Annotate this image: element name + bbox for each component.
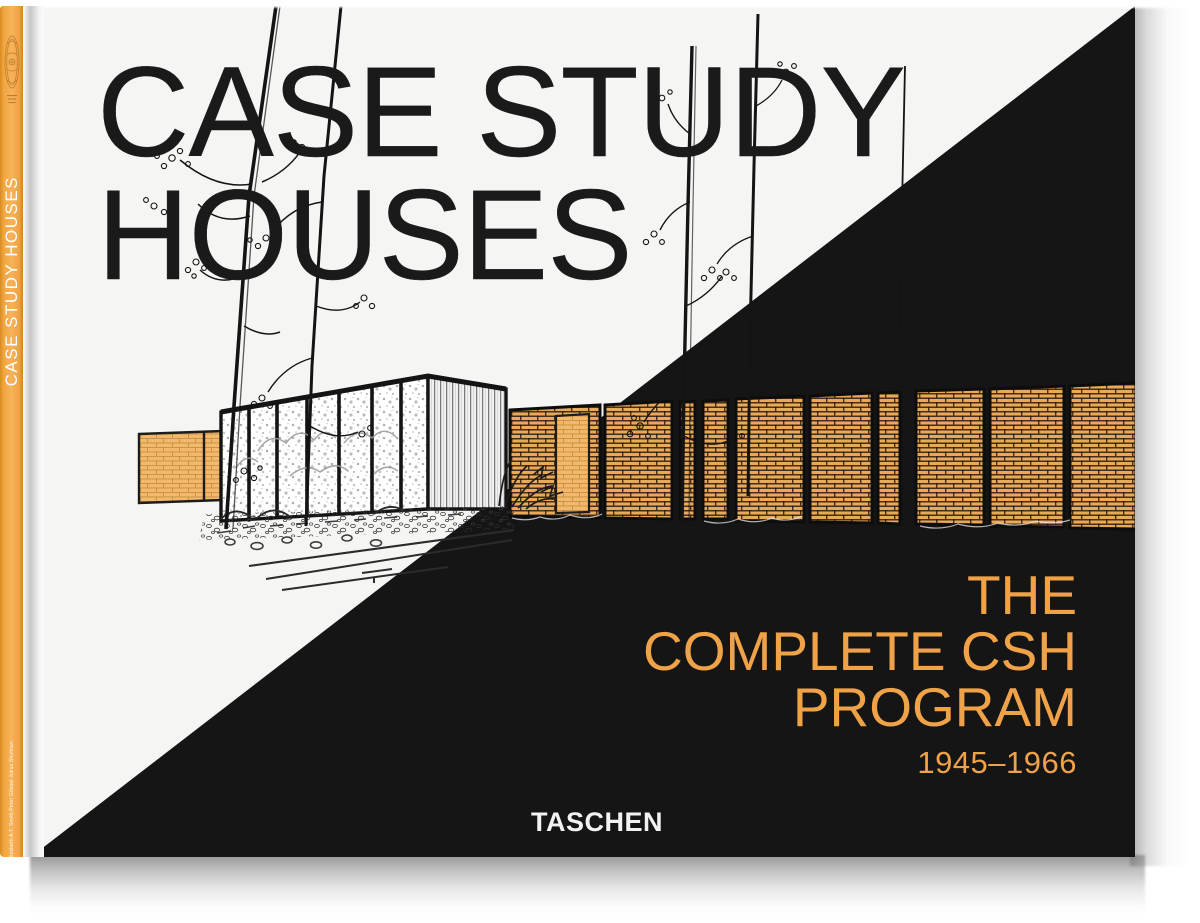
- house-siding-volume: [221, 376, 506, 509]
- house-glass-facade: [221, 376, 428, 521]
- book-spine-hinge: [23, 6, 44, 857]
- book-spine: CASE STUDY HOUSES TASCHEN Elizabeth A.T.…: [0, 6, 23, 857]
- design-award-seal-icon: [3, 32, 20, 124]
- publisher-logo: TASCHEN: [531, 807, 663, 838]
- cover-top-highlight: [44, 6, 1135, 9]
- book-cover-scene: CASE STUDY HOUSES TASCHEN Elizabeth A.T.…: [0, 0, 1200, 923]
- book: CASE STUDY HOUSES TASCHEN Elizabeth A.T.…: [0, 2, 1136, 858]
- cover-date-range: 1945–1966: [643, 747, 1077, 779]
- brick-wall-left: [139, 429, 280, 503]
- subtitle-line-2: COMPLETE CSH: [643, 623, 1077, 679]
- book-drop-shadow-right: [1130, 8, 1190, 866]
- cover-subtitle: THE COMPLETE CSH PROGRAM 1945–1966: [643, 567, 1077, 779]
- subtitle-line-1: THE: [643, 567, 1077, 623]
- book-drop-shadow-bottom: [30, 855, 1145, 921]
- spine-title: CASE STUDY HOUSES: [2, 176, 22, 386]
- book-front-cover: CASE STUDY HOUSES THE COMPLETE CSH PROGR…: [44, 6, 1135, 857]
- subtitle-line-3: PROGRAM: [643, 679, 1077, 735]
- spine-footer-credits: TASCHEN Elizabeth A.T. Smith Peter Gösse…: [8, 741, 16, 857]
- page-title: CASE STUDY HOUSES: [97, 52, 905, 298]
